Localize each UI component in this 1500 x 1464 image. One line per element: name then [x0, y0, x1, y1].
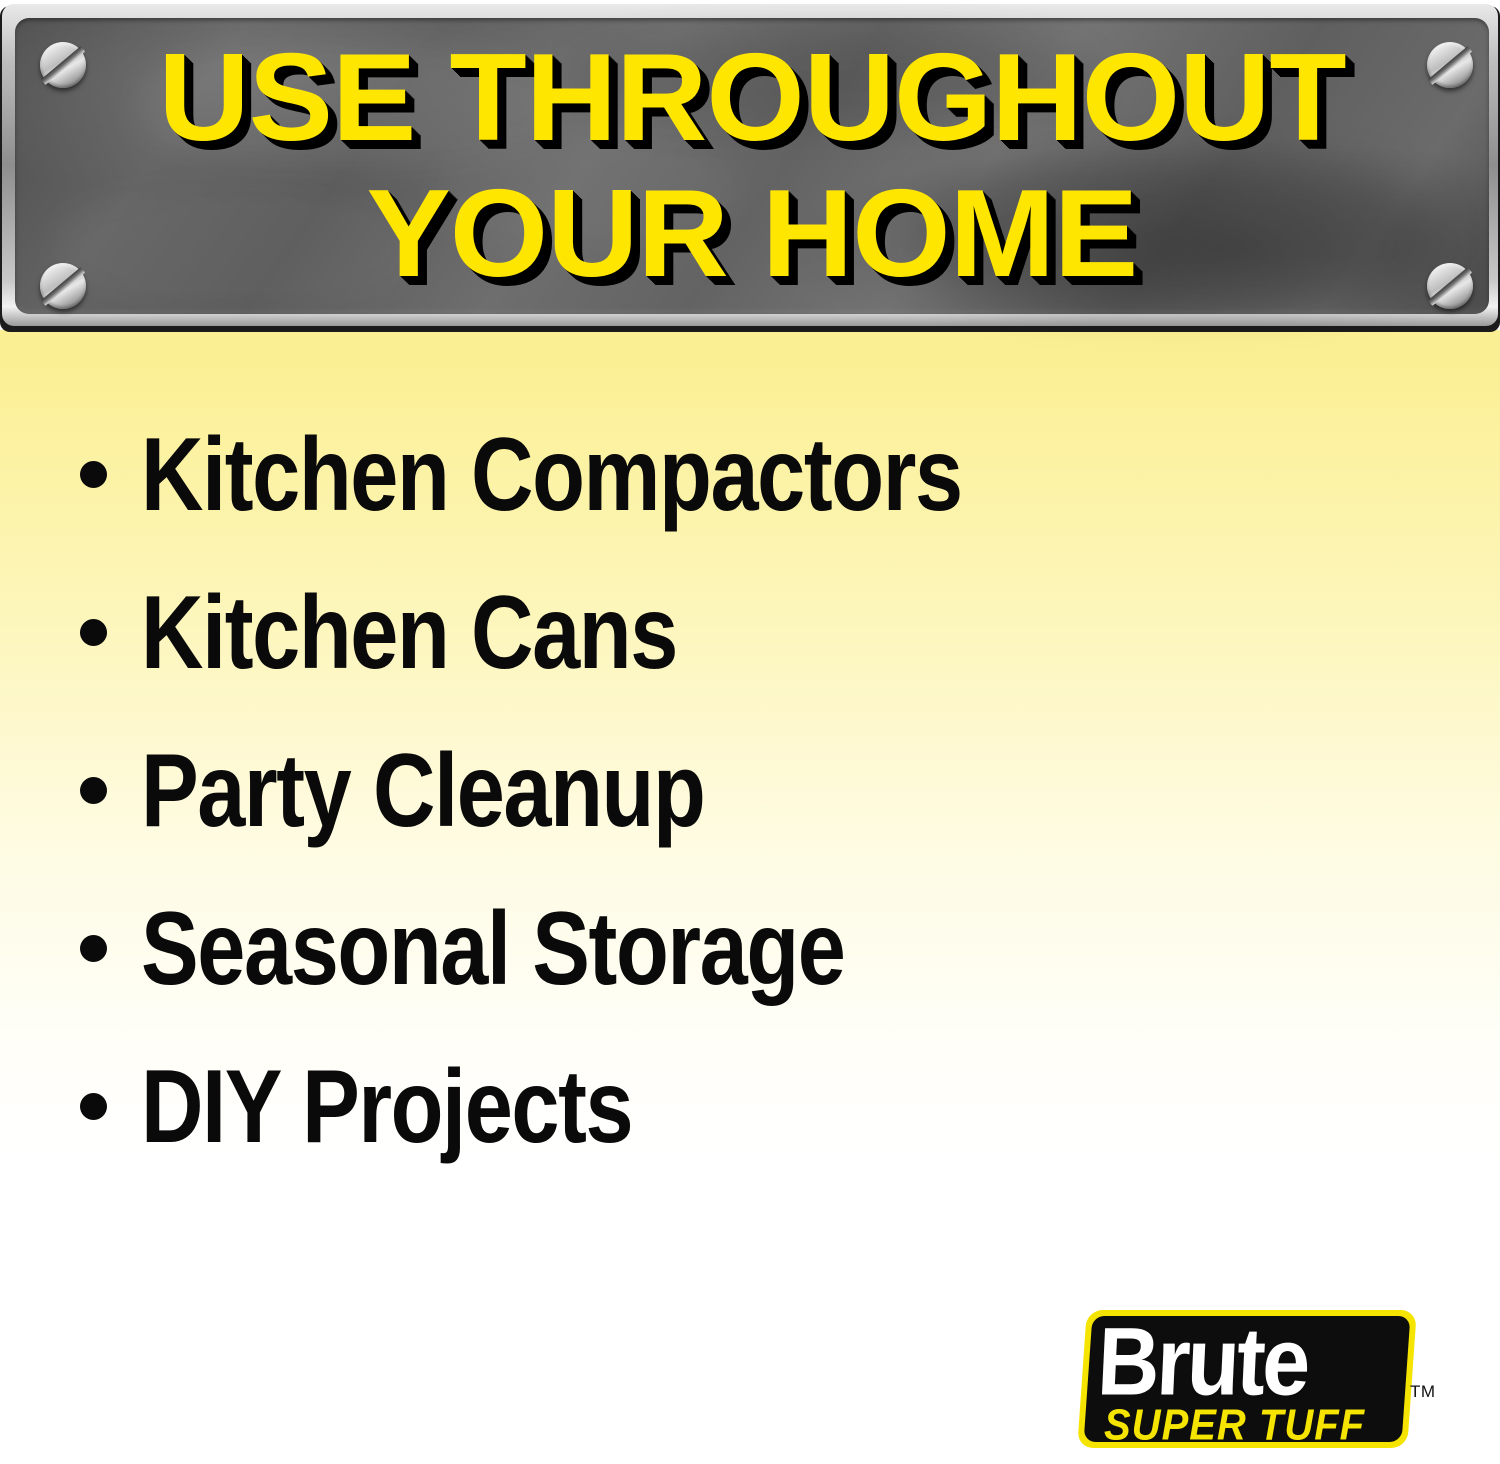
list-item-label: DIY Projects	[141, 1054, 632, 1158]
list-item: Seasonal Storage	[0, 869, 1500, 1027]
page-title-line-1: USE THROUGHOUT	[158, 33, 1345, 163]
list-item-label: Kitchen Compactors	[141, 422, 962, 526]
product-feature-poster: USE THROUGHOUT YOUR HOME Kitchen Compact…	[0, 0, 1500, 1464]
brushed-metal-highlight	[55, 188, 415, 308]
list-item: Party Cleanup	[0, 711, 1500, 869]
trademark-symbol: TM	[1410, 1382, 1436, 1402]
brushed-metal-shadow	[915, 158, 1435, 308]
screw-icon-bottom-right	[1427, 263, 1473, 309]
screw-icon-top-left	[40, 42, 86, 88]
screw-icon-top-right	[1427, 42, 1473, 88]
list-item-label: Kitchen Cans	[141, 580, 677, 684]
brushed-metal-highlight	[435, 138, 735, 248]
logo-tagline: SUPER TUFF	[1104, 1404, 1365, 1447]
bullet-dot-icon	[80, 1093, 107, 1120]
list-item: DIY Projects	[0, 1027, 1500, 1185]
brushed-metal-shadow	[575, 36, 1095, 126]
list-item-label: Party Cleanup	[141, 738, 704, 842]
list-item: Kitchen Compactors	[0, 395, 1500, 553]
use-case-list: Kitchen Compactors Kitchen Cans Party Cl…	[0, 395, 1500, 1185]
screw-icon-bottom-left	[40, 263, 86, 309]
list-item: Kitchen Cans	[0, 553, 1500, 711]
page-title-line-2: YOUR HOME	[367, 169, 1138, 299]
bullet-dot-icon	[80, 619, 107, 646]
bullet-dot-icon	[80, 935, 107, 962]
metal-plate-header: USE THROUGHOUT YOUR HOME	[0, 0, 1500, 333]
brute-super-tuff-logo: Brute SUPER TUFF TM	[1080, 1308, 1432, 1456]
brushed-metal-highlight	[135, 44, 555, 164]
bullet-dot-icon	[80, 461, 107, 488]
bullet-dot-icon	[80, 777, 107, 804]
list-item-label: Seasonal Storage	[141, 896, 845, 1000]
plate-bezel: USE THROUGHOUT YOUR HOME	[2, 4, 1498, 326]
page-title: USE THROUGHOUT YOUR HOME	[15, 18, 1489, 314]
logo-brand-name: Brute	[1095, 1314, 1309, 1410]
plate-face: USE THROUGHOUT YOUR HOME	[15, 18, 1489, 314]
